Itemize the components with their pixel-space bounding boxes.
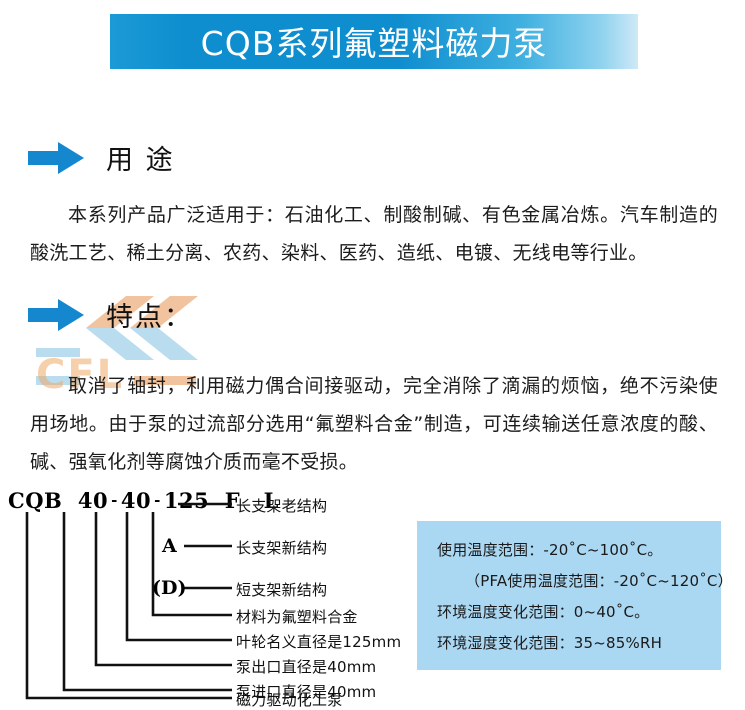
- arrow-right-icon: [28, 141, 84, 175]
- diagram-label-outlet-diameter: 泵出口直径是40mm: [236, 656, 376, 677]
- diagram-label-material: 材料为氟塑料合金: [236, 606, 358, 627]
- usage-body-text: 本系列产品广泛适用于：石油化工、制酸制碱、有色金属冶炼。汽车制造的酸洗工艺、稀土…: [30, 196, 718, 272]
- diagram-label-impeller-diameter: 叶轮名义直径是125mm: [236, 631, 401, 652]
- features-body-text: 取消了轴封，利用磁力偶合间接驱动，完全消除了滴漏的烦恼，绝不污染使用场地。由于泵…: [30, 367, 718, 481]
- arrow-right-icon: [28, 298, 84, 332]
- temperature-info-box: 使用温度范围：-20˚C~100˚C。 （PFA使用温度范围：-20˚C~120…: [417, 521, 721, 670]
- variant-label-short-new: 短支架新结构: [236, 579, 327, 600]
- info-box-lines: 使用温度范围：-20˚C~100˚C。 （PFA使用温度范围：-20˚C~120…: [437, 535, 711, 659]
- section-title-usage: 用 途: [106, 138, 175, 177]
- page-title: CQB系列氟塑料磁力泵: [110, 17, 638, 65]
- diagram-label-pump-type: 磁力驱动化工泵: [236, 689, 342, 710]
- info-line-pfa-temp: （PFA使用温度范围：-20˚C~120˚C）: [437, 566, 711, 597]
- info-line-operating-temp: 使用温度范围：-20˚C~100˚C。: [437, 535, 711, 566]
- section-heading-features: 特点：: [28, 295, 193, 334]
- variant-symbol-a: A: [162, 535, 177, 557]
- variant-label-long-old: 长支架老结构: [236, 495, 327, 516]
- variant-symbol-d: (D): [152, 577, 186, 599]
- info-line-ambient-humidity: 环境湿度变化范围：35~85%RH: [437, 628, 711, 659]
- section-heading-usage: 用 途: [28, 138, 175, 177]
- info-line-ambient-temp: 环境温度变化范围：0~40˚C。: [437, 597, 711, 628]
- variant-label-long-new: 长支架新结构: [236, 537, 327, 558]
- section-title-features: 特点：: [106, 295, 193, 334]
- model-code-diagram: CQB 40-40-125 F L A (D) 长支架老结构 长: [0, 488, 420, 703]
- title-banner: CQB系列氟塑料磁力泵: [110, 14, 638, 69]
